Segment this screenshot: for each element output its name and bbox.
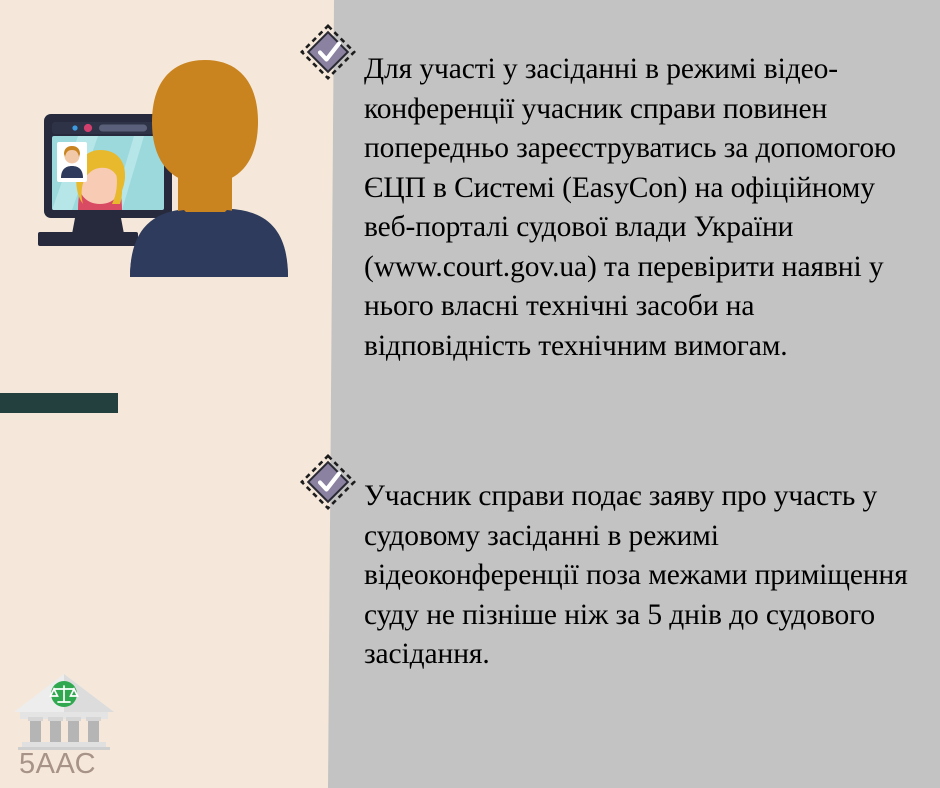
- bullet-paragraph-1: Для участі у засіданні в режимі відео-ко…: [364, 50, 924, 366]
- slide-canvas: Для участі у засіданні в режимі відео-ко…: [0, 0, 940, 788]
- check-diamond-icon: [296, 20, 360, 84]
- video-call-illustration: [26, 52, 294, 277]
- logo-label: 5ААС: [10, 748, 118, 780]
- check-diamond-icon: [296, 450, 360, 514]
- accent-bar: [0, 393, 118, 413]
- courthouse-icon: [10, 668, 118, 750]
- court-logo: 5ААС: [10, 668, 118, 783]
- bullet-paragraph-2: Учасник справи подає заяву про участь у …: [364, 477, 924, 675]
